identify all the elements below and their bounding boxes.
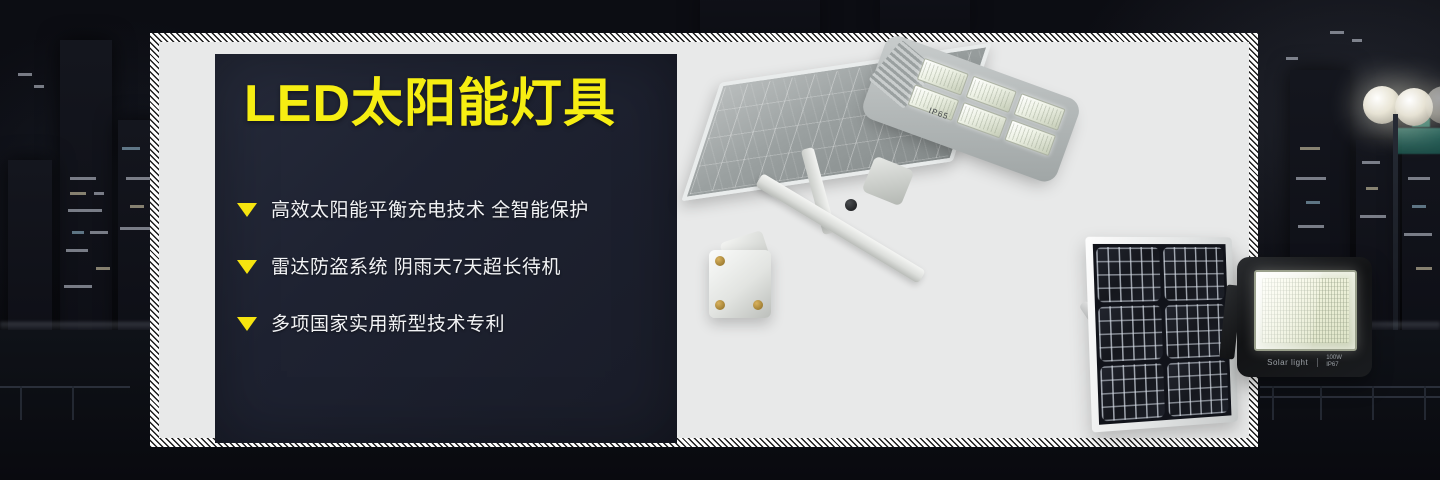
mount-bolt — [715, 256, 725, 266]
railing-post — [1424, 386, 1426, 420]
solar-street-light-image: IP65 — [699, 54, 1049, 334]
window-light — [70, 192, 86, 195]
street-light-wall-mount — [709, 250, 771, 318]
triangle-down-icon — [237, 317, 257, 331]
list-item: 雷达防盗系统 阴雨天7天超长待机 — [237, 237, 667, 294]
banner-panel: LED太阳能灯具 高效太阳能平衡充电技术 全智能保护 雷达防盗系统 阴雨天7天超… — [159, 42, 1249, 438]
headline-box: LED太阳能灯具 高效太阳能平衡充电技术 全智能保护 雷达防盗系统 阴雨天7天超… — [215, 54, 677, 443]
window-light — [64, 285, 92, 288]
mount-bolt — [715, 300, 725, 310]
brand-label: Solar light — [1267, 358, 1318, 367]
feature-list: 高效太阳能平衡充电技术 全智能保护 雷达防盗系统 阴雨天7天超长待机 多项国家实… — [237, 180, 667, 351]
feature-text: 高效太阳能平衡充电技术 全智能保护 — [271, 195, 589, 222]
window-light — [66, 249, 88, 252]
banner-frame: LED太阳能灯具 高效太阳能平衡充电技术 全智能保护 雷达防盗系统 阴雨天7天超… — [150, 33, 1258, 447]
radar-sensor-icon — [845, 199, 857, 211]
product-showcase: IP65 — [689, 42, 1249, 438]
triangle-down-icon — [237, 260, 257, 274]
window-light — [1286, 57, 1298, 60]
flood-light-body: Solar light 100W IP67 — [1237, 257, 1372, 377]
window-light — [34, 85, 44, 88]
list-item: 多项国家实用新型技术专利 — [237, 294, 667, 351]
window-light — [130, 205, 144, 208]
window-light — [72, 231, 84, 234]
flood-light-label: Solar light 100W IP67 — [1237, 353, 1372, 371]
triangle-down-icon — [237, 203, 257, 217]
spec-label: 100W IP67 — [1318, 355, 1342, 370]
wattage-label: 100W — [1326, 355, 1342, 361]
cell-block — [1098, 305, 1163, 362]
window-light — [126, 177, 150, 180]
window-light — [70, 177, 96, 180]
window-light — [120, 227, 150, 230]
flood-light-lens — [1254, 270, 1357, 351]
cell-block — [1100, 363, 1165, 421]
cell-block — [1165, 304, 1227, 359]
panel-frame — [1085, 237, 1238, 433]
railing-post — [1272, 386, 1274, 420]
flood-light-image: Solar light 100W IP67 — [1237, 257, 1372, 377]
ip-rating-label: IP67 — [1326, 362, 1338, 368]
cell-block — [1163, 247, 1225, 301]
window-light — [18, 73, 32, 76]
window-light — [96, 267, 110, 270]
window-light — [90, 231, 108, 234]
window-light — [1330, 31, 1344, 34]
window-light — [1300, 147, 1320, 150]
building — [60, 40, 112, 370]
railing-post — [1372, 386, 1374, 420]
window-light — [1296, 177, 1326, 180]
panel-cell-grid — [1093, 244, 1232, 425]
window-light — [94, 192, 104, 195]
cell-block — [1096, 247, 1161, 302]
cell-block — [1167, 360, 1229, 417]
list-item: 高效太阳能平衡充电技术 全智能保护 — [237, 180, 667, 237]
railing-rail — [1260, 386, 1440, 388]
window-light — [68, 209, 102, 212]
railing-rail — [1260, 396, 1440, 398]
railing-post — [20, 386, 22, 420]
window-light — [1306, 201, 1320, 204]
window-light — [122, 147, 140, 150]
building — [880, 0, 970, 35]
window-light — [1298, 225, 1324, 228]
feature-text: 多项国家实用新型技术专利 — [271, 309, 505, 336]
solar-panel-image — [1086, 234, 1243, 429]
page-title: LED太阳能灯具 — [244, 78, 616, 130]
railing-post — [72, 386, 74, 420]
window-light — [1352, 39, 1362, 42]
mount-bolt — [753, 300, 763, 310]
feature-text: 雷达防盗系统 阴雨天7天超长待机 — [271, 252, 561, 279]
railing-post — [1320, 386, 1322, 420]
